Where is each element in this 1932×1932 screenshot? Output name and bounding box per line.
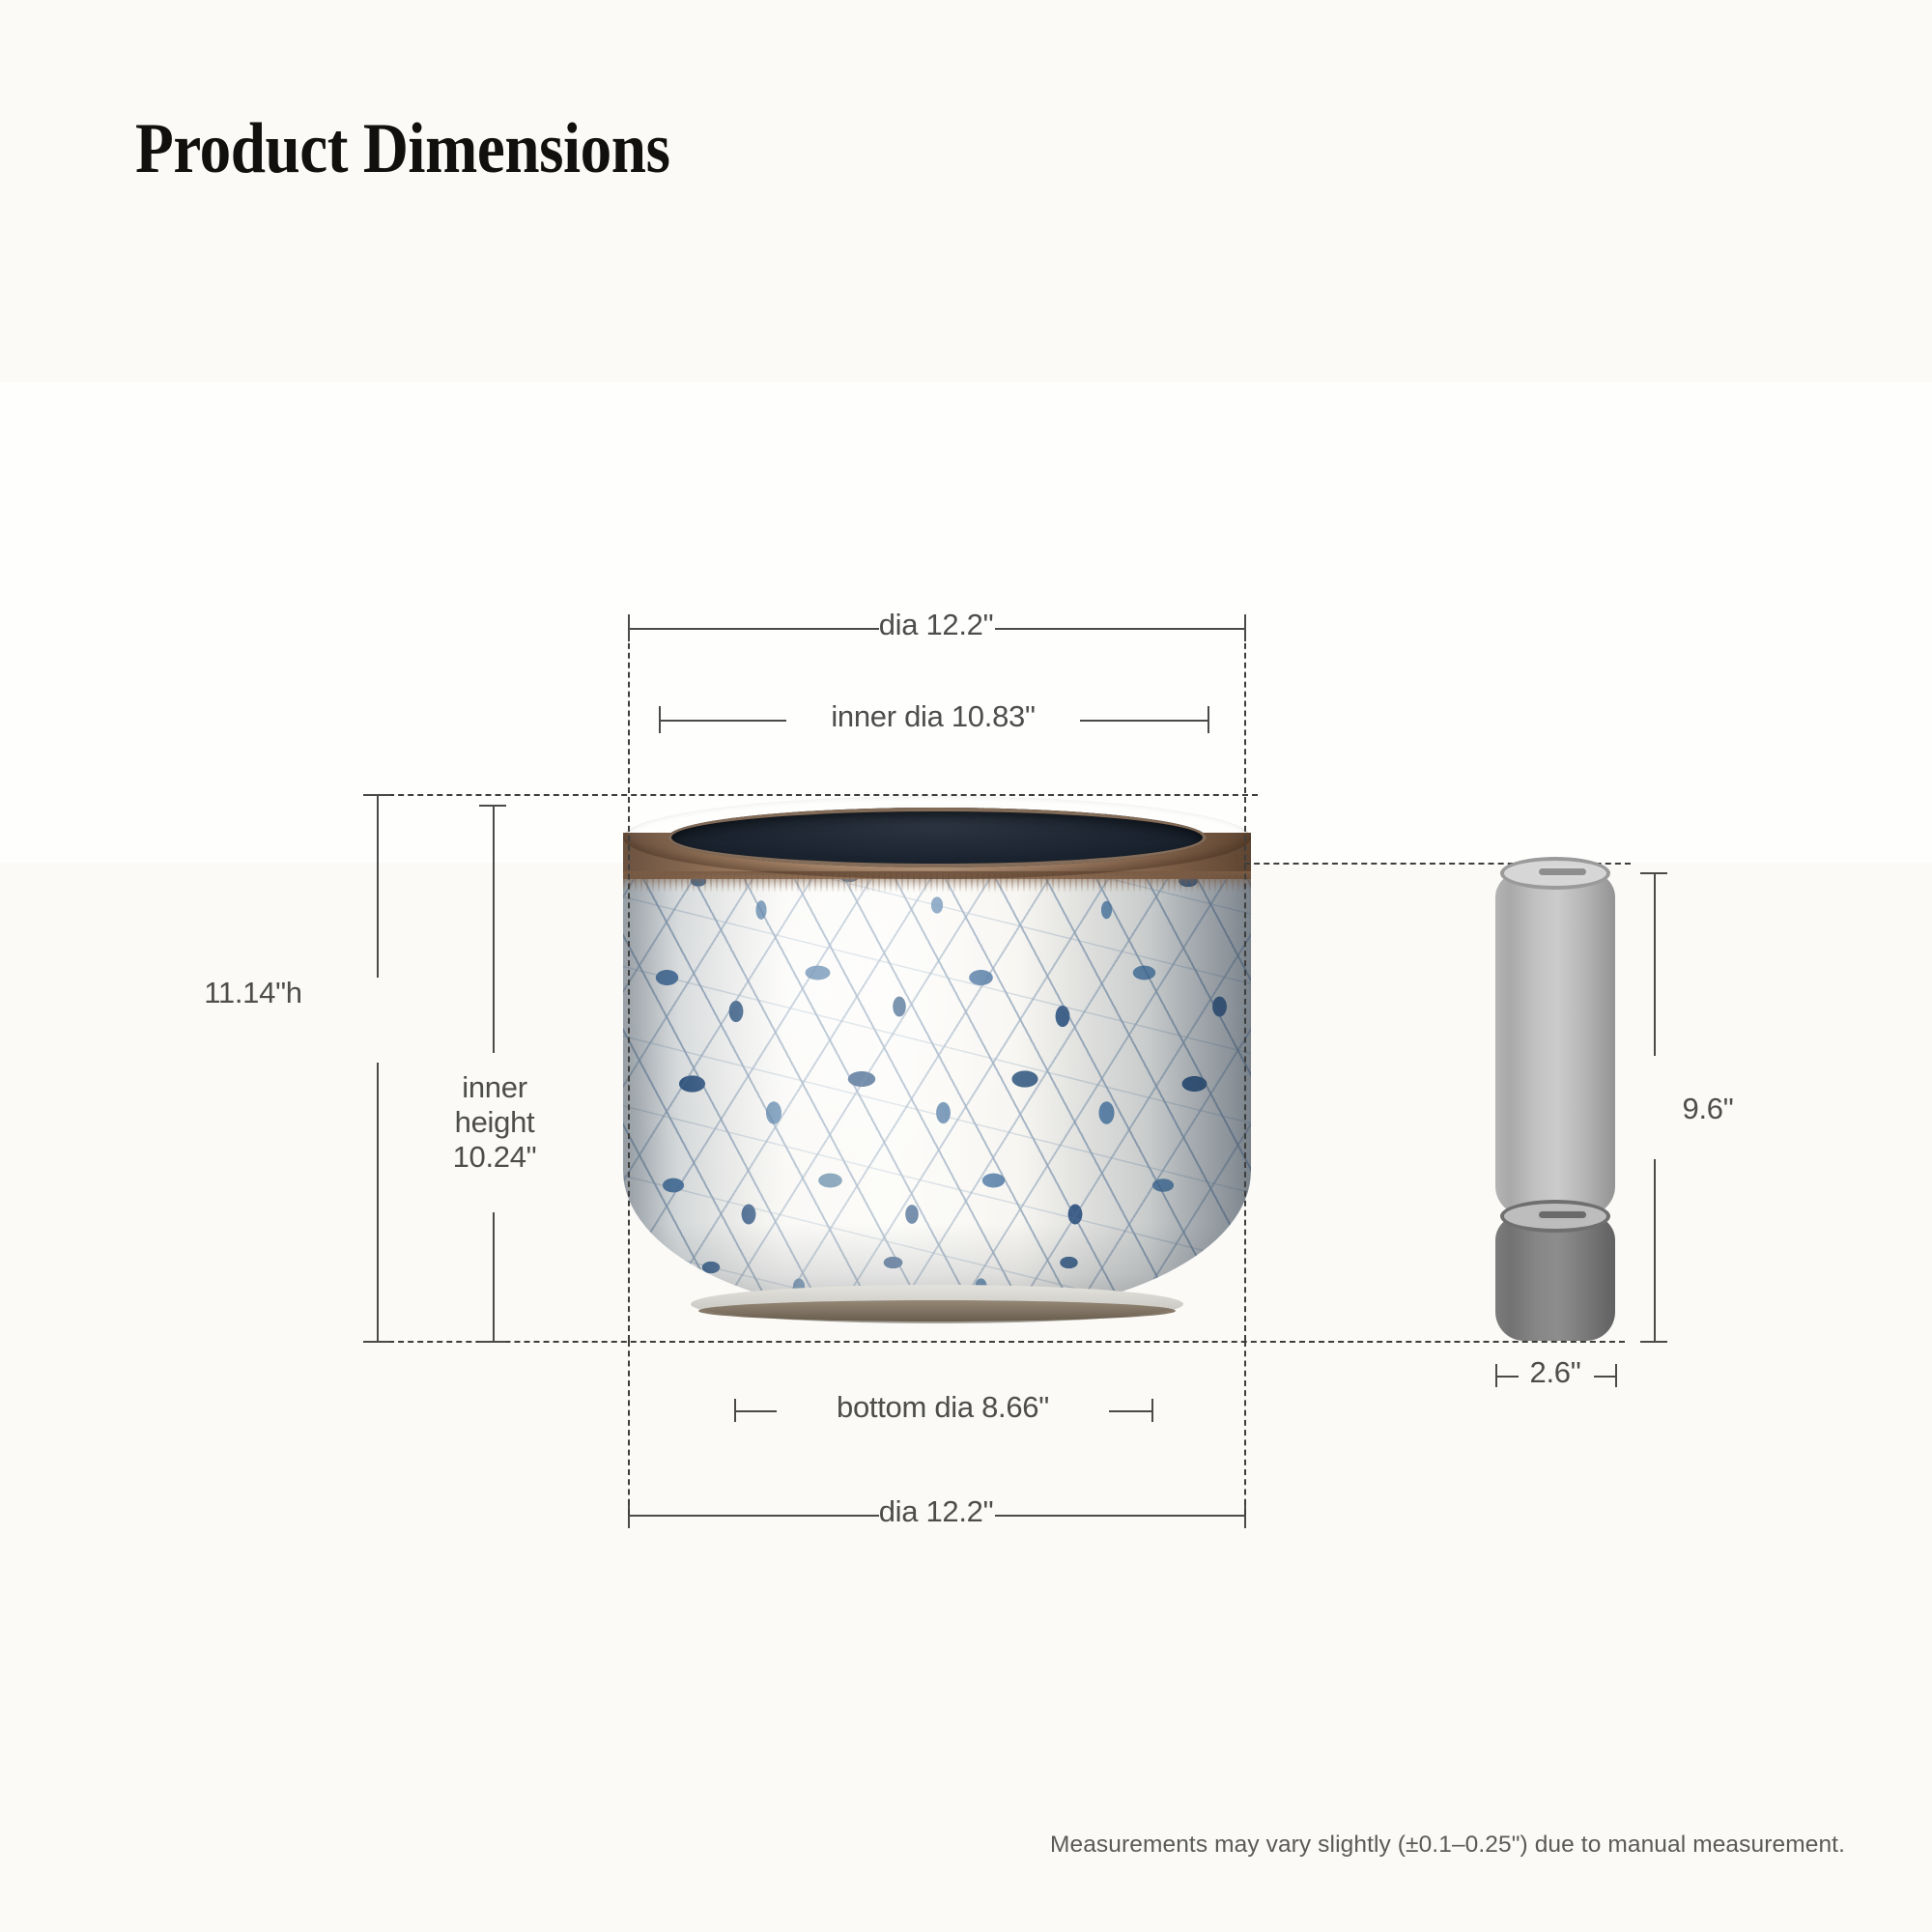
base-guide [369,1341,1625,1343]
inner-dia-line-left [659,720,786,722]
outer-height-line-upper [377,794,379,978]
inner-height-label-line1: inner [453,1070,537,1105]
can-dark-body [1495,1215,1615,1341]
can-dark-pull-tab [1536,1208,1589,1221]
extension-line-right [1244,614,1246,1341]
inner-height-line-upper [493,805,495,1053]
rim-top-guide [369,794,1258,796]
can-height-line-upper [1654,872,1656,1056]
page-title: Product Dimensions [135,108,669,190]
overall-dia-line-right [995,1515,1244,1517]
bottom-dia-line-left [734,1410,777,1412]
can-width-line-left [1495,1376,1519,1378]
bottom-dia-line-right [1109,1410,1151,1412]
reference-can-light [1495,872,1615,1215]
inner-diameter-label: inner dia 10.83" [831,699,1035,734]
can-height-line-lower [1654,1159,1656,1341]
inner-height-label-line2: height [453,1105,537,1140]
inner-dia-line-right [1080,720,1207,722]
inner-dia-tick-left [659,706,661,733]
inner-height-tick-top [479,805,506,807]
outer-height-label: 11.14"h [204,976,301,1010]
inner-height-label-line3: 10.24" [453,1140,537,1175]
outer-height-tick-bottom [363,1341,390,1343]
planter-body [623,833,1251,1316]
overall-dia-extension-left [628,1341,630,1515]
planter-foot-rim [698,1300,1176,1321]
top-dia-line-right [995,628,1244,630]
planter-product-image [623,782,1251,1343]
rim-inner-lip [668,808,1207,867]
top-dia-line-left [628,628,879,630]
top-dia-tick-right [1244,614,1246,641]
overall-diameter-label: dia 12.2" [879,1494,994,1529]
top-dia-tick-left [628,614,630,641]
extension-line-left [628,614,630,1341]
overall-dia-extension-right [1244,1341,1246,1515]
top-diameter-label: dia 12.2" [879,608,994,642]
inner-dia-tick-right [1207,706,1209,733]
inner-height-tick-bottom [479,1341,506,1343]
inner-height-line-lower [493,1212,495,1341]
can-light-body [1495,872,1615,1215]
outer-height-tick-top [363,794,390,796]
can-height-label: 9.6" [1683,1092,1734,1126]
can-light-pull-tab [1536,866,1589,878]
can-height-tick-bottom [1640,1341,1667,1343]
outer-height-line-lower [377,1063,379,1341]
can-width-tick-right [1615,1364,1617,1387]
background-band-top [0,0,1932,383]
diagram-canvas: Product Dimensions dia 12.2" inner dia 1… [0,0,1932,1932]
can-width-label: 2.6" [1530,1355,1581,1390]
bottom-dia-tick-right [1151,1399,1153,1422]
bottom-diameter-label: bottom dia 8.66" [837,1390,1049,1425]
measurement-disclaimer: Measurements may vary slightly (±0.1–0.2… [0,1832,1845,1859]
reference-can-dark [1495,1215,1615,1341]
can-height-tick-top [1640,872,1667,874]
can-width-line-right [1594,1376,1615,1378]
can-width-tick-left [1495,1364,1497,1387]
overall-dia-line-left [628,1515,879,1517]
bottom-dia-tick-left [734,1399,736,1422]
inner-height-label-group: inner height 10.24" [453,1070,537,1175]
